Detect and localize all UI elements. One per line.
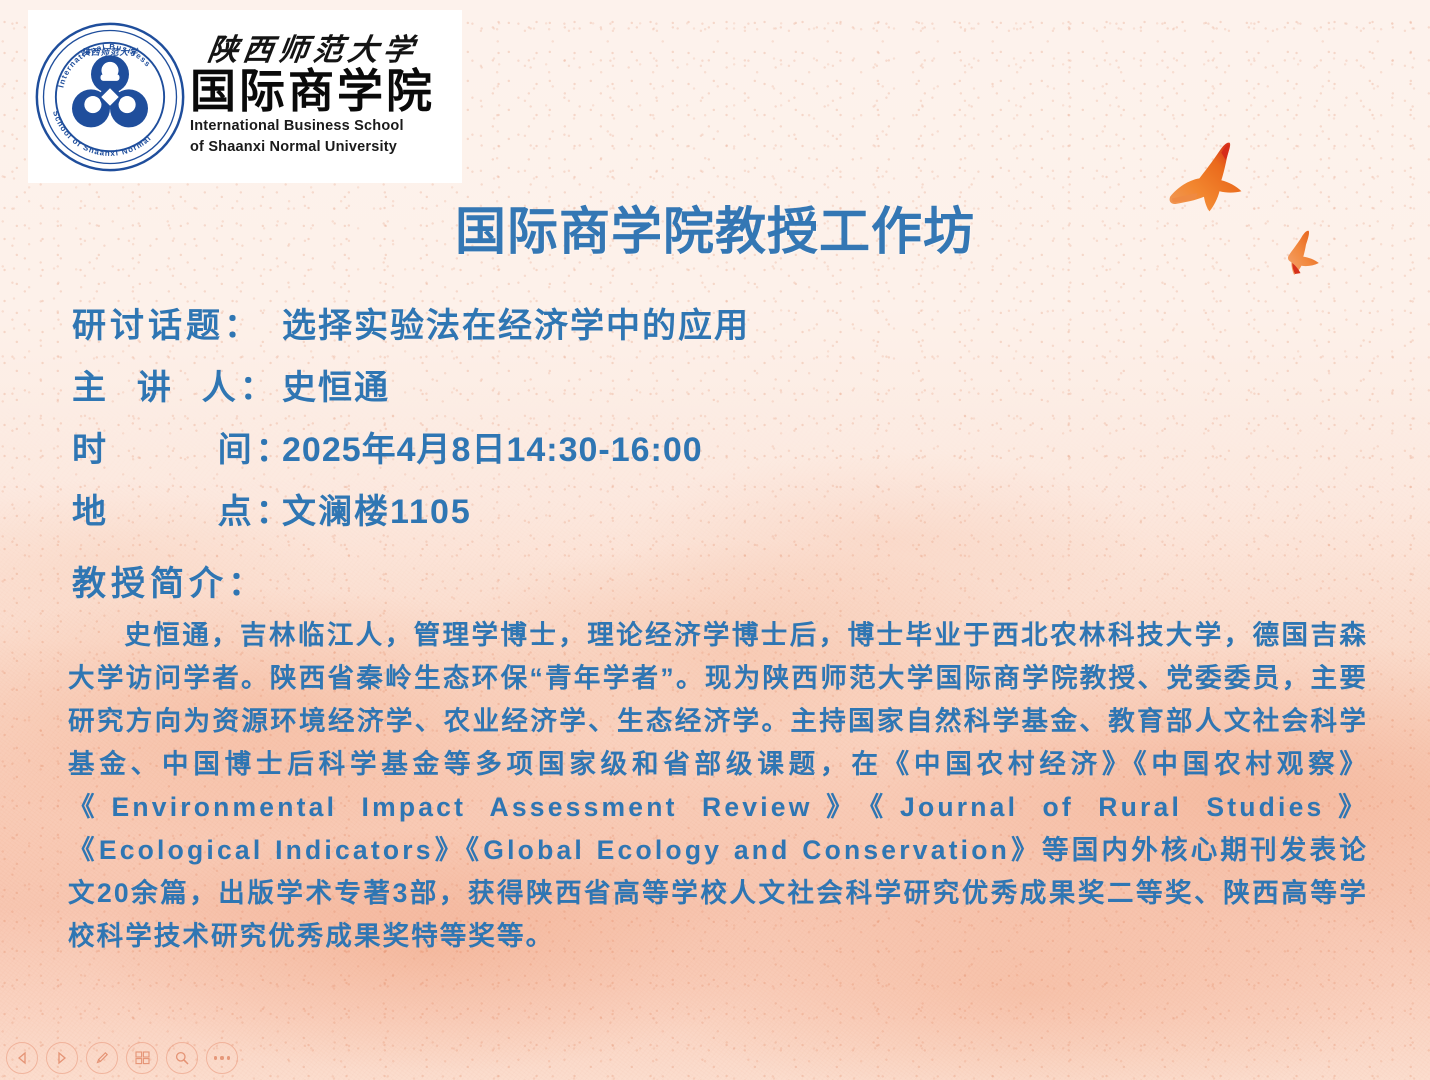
info-row-speaker: 主 讲 人： 史恒通: [72, 360, 1362, 422]
logo-main-line: 国际商学院: [190, 68, 456, 115]
previous-slide-button[interactable]: [6, 1042, 38, 1074]
more-options-button[interactable]: [206, 1042, 238, 1074]
zoom-button[interactable]: [166, 1042, 198, 1074]
bio-segment-1: 史恒通，吉林临江人，管理学博士，理论经济学博士后，博士毕业于西北农林科技大学，德…: [68, 620, 1368, 779]
logo-english-line-2: of Shaanxi Normal University: [190, 139, 456, 157]
institution-logo: International Business School of Shaanxi…: [28, 10, 462, 183]
pen-tool-button[interactable]: [86, 1042, 118, 1074]
logo-wordmark: 陕西师范大学 国际商学院 International Business Scho…: [186, 36, 462, 156]
slide-overview-button[interactable]: [126, 1042, 158, 1074]
info-label-location: 地 点：: [72, 484, 282, 533]
ellipsis-icon: [214, 1056, 230, 1059]
triangle-right-icon: [55, 1051, 69, 1065]
bio-paragraph: 史恒通，吉林临江人，管理学博士，理论经济学博士后，博士毕业于西北农林科技大学，德…: [68, 614, 1368, 958]
info-value-location: 文澜楼1105: [282, 484, 1362, 533]
info-label-topic: 研讨话题：: [72, 298, 282, 347]
info-value-speaker: 史恒通: [282, 360, 1362, 409]
info-label-speaker: 主 讲 人：: [72, 360, 282, 409]
bio-journal-4: 《Global Ecology and Conservation》: [466, 835, 1042, 865]
next-slide-button[interactable]: [46, 1042, 78, 1074]
bio-journal-3: 《Ecological Indicators》: [68, 835, 466, 865]
bio-journal-2: 《Journal of Rural Studies》: [870, 792, 1368, 822]
slideshow-toolbar: [6, 1042, 238, 1074]
university-seal-icon: International Business School of Shaanxi…: [34, 21, 186, 173]
info-row-location: 地 点： 文澜楼1105: [72, 484, 1362, 546]
info-value-topic: 选择实验法在经济学中的应用: [282, 298, 1362, 347]
logo-english-line-1: International Business School: [190, 118, 456, 136]
triangle-left-icon: [15, 1051, 29, 1065]
magnifier-icon: [174, 1050, 190, 1066]
info-label-time: 时 间：: [72, 422, 282, 471]
grid-icon: [134, 1050, 151, 1067]
bio-journal-1: 《Environmental Impact Assessment Review》: [68, 792, 870, 822]
info-row-time: 时 间： 2025年4月8日14:30-16:00: [72, 422, 1362, 484]
bio-heading: 教授简介：: [72, 556, 267, 605]
presentation-slide: International Business School of Shaanxi…: [0, 0, 1430, 1080]
info-value-time: 2025年4月8日14:30-16:00: [282, 422, 1362, 471]
page-title: 国际商学院教授工作坊: [0, 190, 1430, 264]
event-info-block: 研讨话题： 选择实验法在经济学中的应用 主 讲 人： 史恒通 时 间： 2025…: [72, 298, 1362, 546]
logo-script-line: 陕西师范大学: [188, 36, 458, 66]
pen-icon: [94, 1050, 110, 1066]
info-row-topic: 研讨话题： 选择实验法在经济学中的应用: [72, 298, 1362, 360]
